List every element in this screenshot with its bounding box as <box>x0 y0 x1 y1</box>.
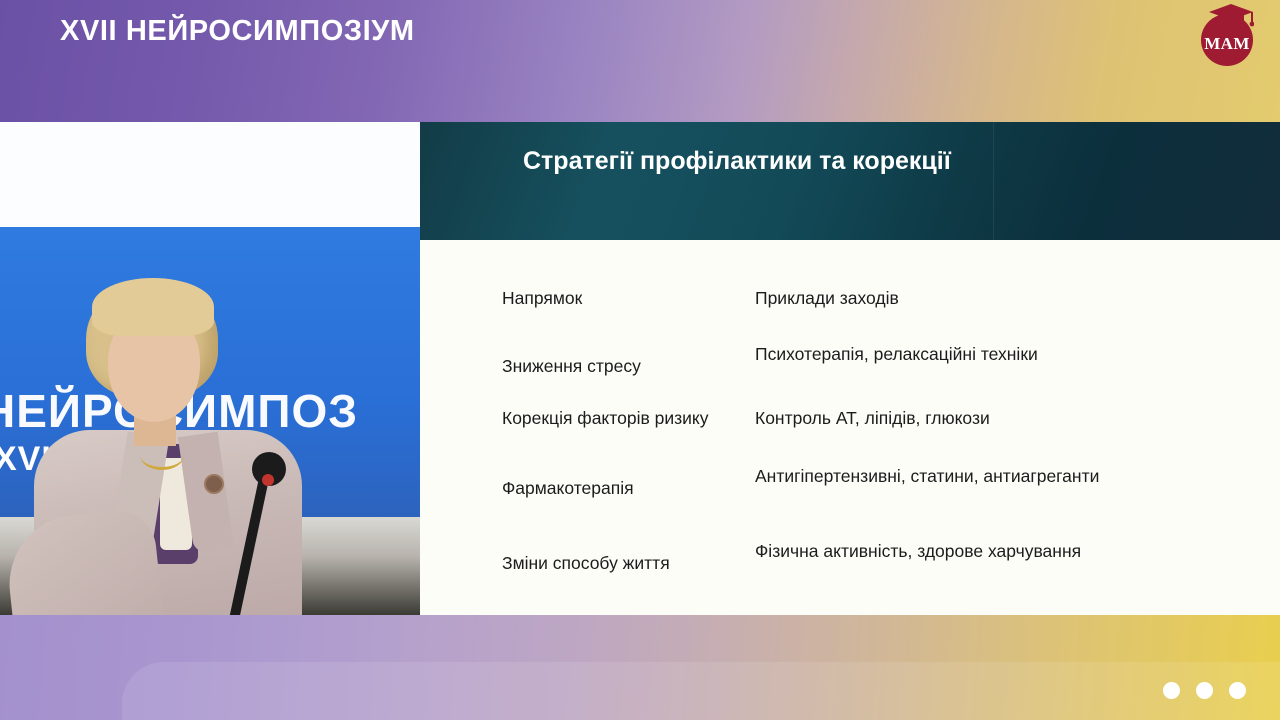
speaker-badge <box>204 474 224 494</box>
footer-panel <box>122 662 1280 720</box>
table-cell-text: Психотерапія, релаксаційні техніки <box>755 342 1195 367</box>
backdrop-upper <box>0 122 420 227</box>
table-cell-text: Антигіпертензивні, статини, антиагрегант… <box>755 464 1195 489</box>
logo-circle: MAM <box>1201 14 1253 66</box>
slide-content: НЕЙРОСИМПОЗ XVII Стратегії профілактик <box>0 122 1280 615</box>
speaker-video-tile[interactable]: НЕЙРОСИМПОЗ XVII <box>0 122 420 615</box>
table-row: Корекція факторів ризику Контроль АТ, лі… <box>420 406 1280 431</box>
slide-indicator-dots[interactable] <box>1163 682 1246 699</box>
table-cell-text: Зниження стресу <box>502 354 755 379</box>
table-header-row: Напрямок Приклади заходів <box>420 286 1280 311</box>
table-row: Зниження стресу Психотерапія, релаксацій… <box>420 342 1280 379</box>
table-header-text: Напрямок <box>502 286 755 311</box>
table-cell-measures: Антигіпертензивні, статини, антиагрегант… <box>755 464 1195 501</box>
table-cell-direction: Зниження стресу <box>420 342 755 379</box>
table-header-cell-measures: Приклади заходів <box>755 286 1195 311</box>
table-header-text: Приклади заходів <box>755 286 1195 311</box>
table-cell-direction: Зміни способу життя <box>420 539 755 576</box>
speaker-hair-front <box>92 278 214 336</box>
table-cell-direction: Фармакотерапія <box>420 464 755 501</box>
logo-text: MAM <box>1204 34 1250 54</box>
title-band-seam <box>993 122 994 240</box>
table-cell-measures: Контроль АТ, ліпідів, глюкози <box>755 406 1195 431</box>
table-cell-measures: Фізична активність, здорове харчування <box>755 539 1195 576</box>
header-bar: XVII НЕЙРОСИМПОЗІУМ MAM <box>0 0 1280 122</box>
microphone-indicator <box>262 474 274 486</box>
speaker-necklace <box>140 440 184 470</box>
table-row: Фармакотерапія Антигіпертензивні, статин… <box>420 464 1280 501</box>
footer-bar <box>0 615 1280 720</box>
table-cell-text: Контроль АТ, ліпідів, глюкози <box>755 406 1195 431</box>
table-header-cell-direction: Напрямок <box>420 286 755 311</box>
table-cell-text: Корекція факторів ризику <box>502 406 755 431</box>
indicator-dot-3[interactable] <box>1229 682 1246 699</box>
event-title: XVII НЕЙРОСИМПОЗІУМ <box>60 14 415 48</box>
slide-title-band: Стратегії профілактики та корекції <box>420 122 1280 240</box>
slide-table: Напрямок Приклади заходів Зниження стрес… <box>420 240 1280 615</box>
indicator-dot-2[interactable] <box>1196 682 1213 699</box>
table-cell-measures: Психотерапія, релаксаційні техніки <box>755 342 1195 379</box>
indicator-dot-1[interactable] <box>1163 682 1180 699</box>
slide-stage: XVII НЕЙРОСИМПОЗІУМ MAM НЕЙРОСИМПОЗ XVII <box>0 0 1280 720</box>
brand-logo: MAM <box>1196 3 1258 65</box>
table-row: Зміни способу життя Фізична активність, … <box>420 539 1280 576</box>
table-cell-text: Фізична активність, здорове харчування <box>755 539 1195 564</box>
table-cell-text: Зміни способу життя <box>502 551 755 576</box>
table-cell-direction: Корекція факторів ризику <box>420 406 755 431</box>
slide-title: Стратегії профілактики та корекції <box>523 144 1123 178</box>
table-cell-text: Фармакотерапія <box>502 476 755 501</box>
